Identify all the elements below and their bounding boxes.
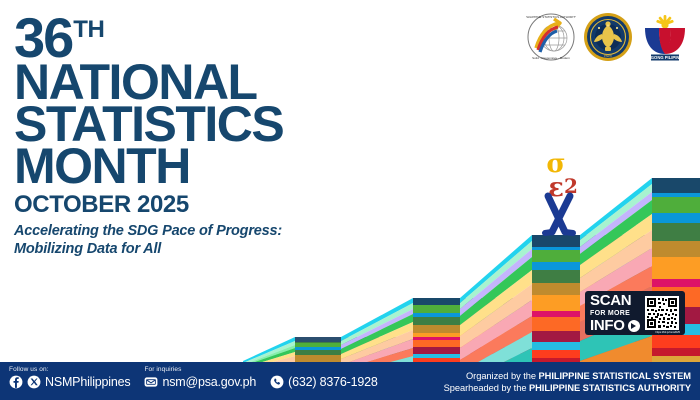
scan-label-line1: SCAN	[590, 293, 640, 308]
phone-number[interactable]: (632) 8376-1928	[288, 375, 377, 389]
theme-line-1: Accelerating the SDG Pace of Progress:	[14, 223, 434, 241]
spearheaded-by-line: Spearheaded by the PHILIPPINE STATISTICS…	[444, 382, 691, 394]
theme-line-2: Mobilizing Data for All	[14, 241, 434, 259]
scan-label-line3: INFO	[590, 318, 625, 333]
follow-us-block: Follow us on: NSMPhilippines	[9, 366, 130, 389]
email-icon	[144, 375, 158, 389]
svg-text:BAGONG PILIPINAS: BAGONG PILIPINAS	[645, 55, 686, 60]
qr-code-icon[interactable]	[645, 296, 679, 330]
x-twitter-icon[interactable]	[27, 375, 41, 389]
spearheaded-prefix: Spearheaded by the	[444, 383, 529, 393]
poster-canvas: σ ε 2 36 TH NATIONAL STATISTICS MONTH OC…	[0, 0, 700, 400]
theme-statement: Accelerating the SDG Pace of Progress: M…	[14, 223, 434, 258]
ordinal-suffix: TH	[73, 18, 104, 42]
phone-icon	[270, 375, 284, 389]
follow-us-caption: Follow us on:	[9, 366, 130, 373]
organized-prefix: Organized by the	[466, 371, 539, 381]
organized-by-line: Organized by the PHILIPPINE STATISTICAL …	[444, 370, 691, 382]
logo-row: PHILIPPINE STATISTICS AUTHORITY Solid · …	[526, 12, 690, 62]
psa-logo: PHILIPPINE STATISTICS AUTHORITY Solid · …	[526, 12, 576, 62]
psrti-seal-logo: PSRTI	[583, 12, 633, 62]
inquiries-caption: For inquiries	[144, 366, 256, 373]
email-address[interactable]: nsm@psa.gov.ph	[162, 375, 256, 389]
arrow-right-icon	[628, 320, 640, 332]
qr-url-caption: https://bit.ly/nsm2025	[655, 331, 680, 334]
phone-block: (632) 8376-1928	[270, 366, 377, 389]
facebook-icon[interactable]	[9, 375, 23, 389]
ramp-segment-4	[580, 178, 652, 381]
inquiries-block: For inquiries nsm@psa.gov.ph	[144, 366, 256, 389]
svg-text:PSRTI: PSRTI	[604, 54, 612, 58]
svg-text:PHILIPPINE STATISTICS AUTHORIT: PHILIPPINE STATISTICS AUTHORITY	[526, 15, 576, 19]
headline-block: 36 TH NATIONAL STATISTICS MONTH OCTOBER …	[14, 14, 434, 259]
greek-letter-stick-figure-icon: σ ε 2	[545, 149, 578, 233]
spearheaded-org: PHILIPPINE STATISTICS AUTHORITY	[529, 383, 691, 393]
scan-for-more-info-badge[interactable]: SCAN FOR MORE INFO	[585, 291, 685, 335]
bagong-pilipinas-logo: BAGONG PILIPINAS	[640, 12, 690, 62]
svg-text:Solid · Responsive · Modern: Solid · Responsive · Modern	[532, 56, 570, 60]
footer-bar: Follow us on: NSMPhilippines For inquiri…	[0, 362, 700, 400]
event-date: OCTOBER 2025	[14, 193, 434, 217]
social-handle: NSMPhilippines	[45, 375, 130, 389]
scan-label-line2: FOR MORE	[590, 310, 640, 317]
organized-org: PHILIPPINE STATISTICAL SYSTEM	[539, 371, 691, 381]
organizer-credits: Organized by the PHILIPPINE STATISTICAL …	[444, 370, 691, 395]
